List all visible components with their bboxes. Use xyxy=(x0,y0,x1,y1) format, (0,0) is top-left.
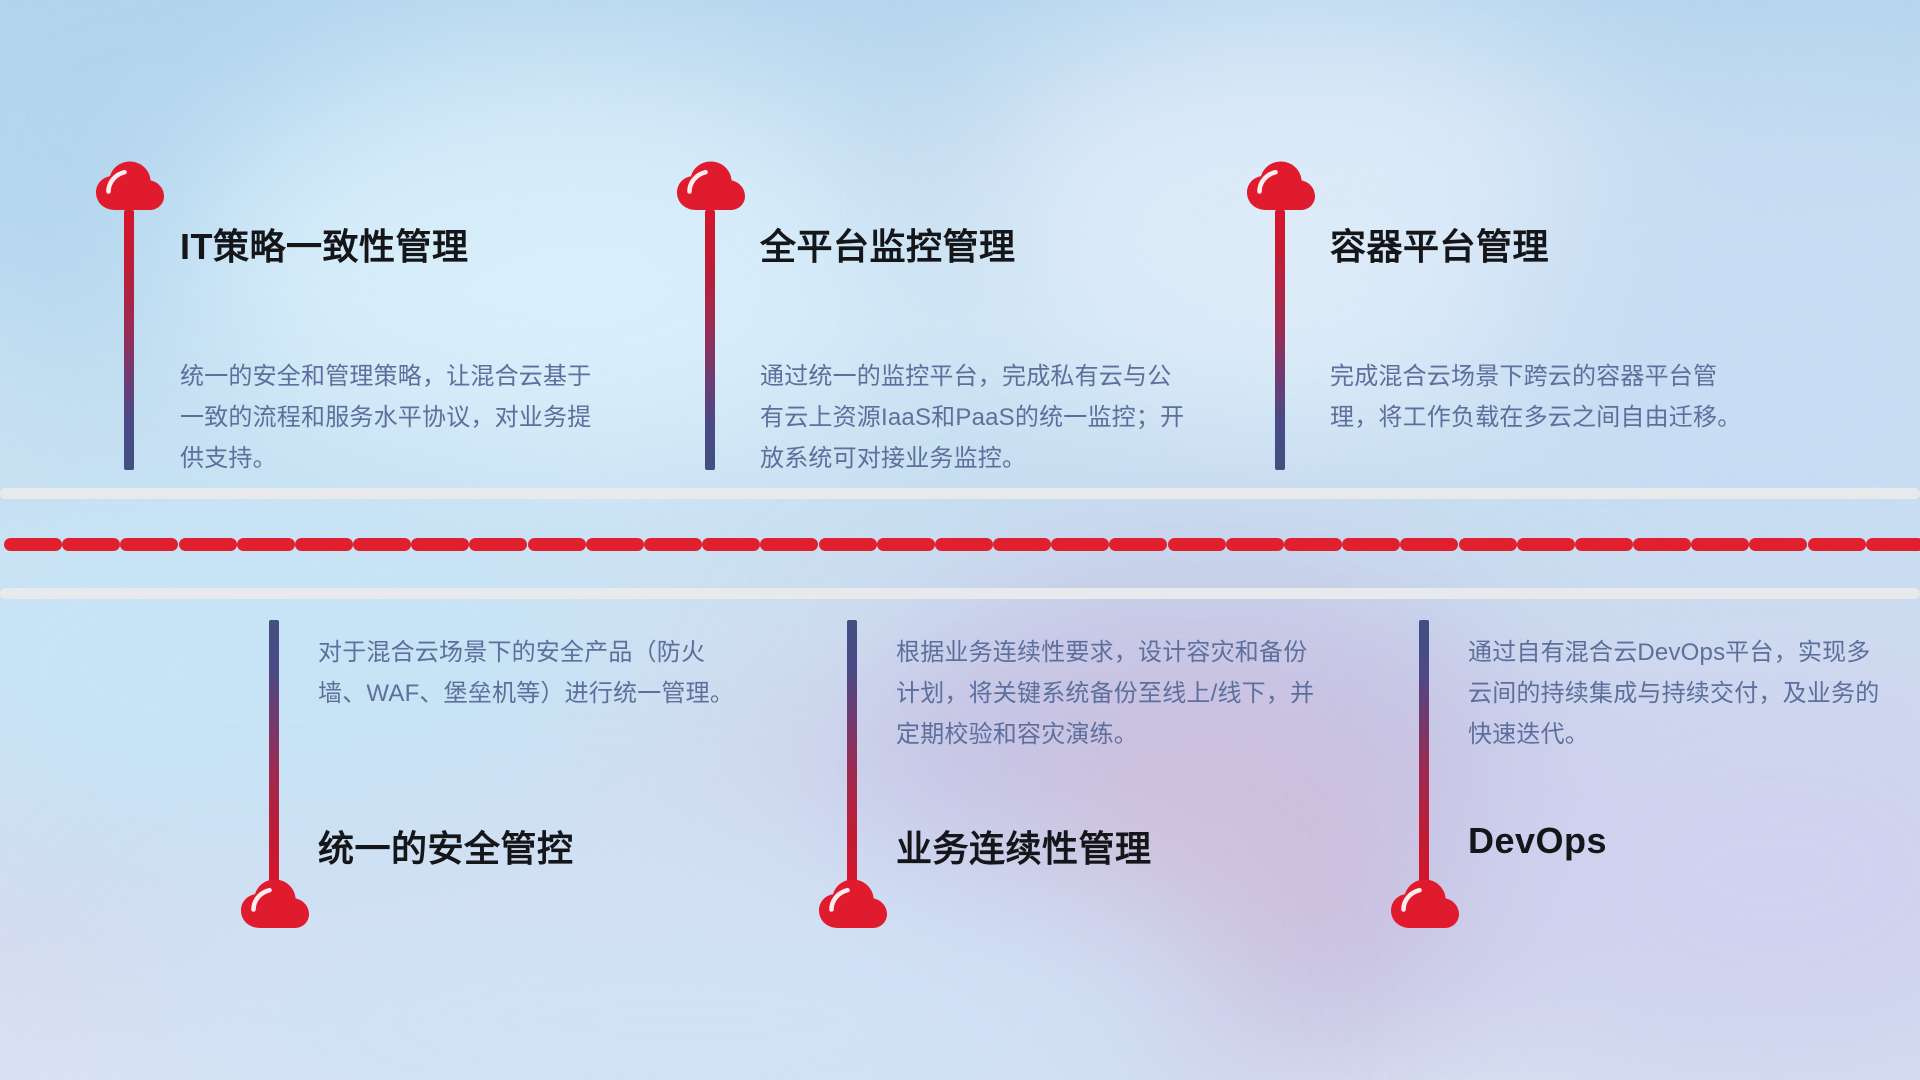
road-dash-segment xyxy=(819,538,877,551)
pin-bar xyxy=(269,620,279,888)
top-item-3-title: 容器平台管理 xyxy=(1330,218,1549,270)
road-dash-segment xyxy=(1691,538,1749,551)
infographic-canvas: IT策略一致性管理 统一的安全和管理策略，让混合云基于一致的流程和服务水平协议，… xyxy=(0,0,1920,1080)
road-dash-segment xyxy=(1168,538,1226,551)
cloud-icon xyxy=(1390,878,1460,930)
background-blob xyxy=(0,0,460,380)
road-dash-segment xyxy=(179,538,237,551)
cloud-icon xyxy=(676,160,746,212)
top-item-1-title: IT策略一致性管理 xyxy=(180,218,469,270)
road-dash-segment xyxy=(1575,538,1633,551)
road-dash-segment xyxy=(1866,538,1920,551)
road-dash-segment xyxy=(295,538,353,551)
road-dash-segment xyxy=(120,538,178,551)
top-item-2-title: 全平台监控管理 xyxy=(760,218,1016,270)
pin-bar xyxy=(1275,210,1285,470)
road-dash-segment xyxy=(935,538,993,551)
top-item-2-body: 通过统一的监控平台，完成私有云与公有云上资源IaaS和PaaS的统一监控；开放系… xyxy=(760,356,1190,479)
road-edge-top xyxy=(0,488,1920,499)
road-dash-segment xyxy=(528,538,586,551)
road-dash-segment xyxy=(993,538,1051,551)
top-item-1-body: 统一的安全和管理策略，让混合云基于一致的流程和服务水平协议，对业务提供支持。 xyxy=(180,356,600,479)
road-dash-segment xyxy=(644,538,702,551)
bottom-item-1-title: 统一的安全管控 xyxy=(318,820,574,872)
cloud-icon xyxy=(1246,160,1316,212)
road-dash-segment xyxy=(1517,538,1575,551)
road-dash-segment xyxy=(411,538,469,551)
road-dash-segment xyxy=(1284,538,1342,551)
road-dash-segment xyxy=(1342,538,1400,551)
road-dash-segment xyxy=(1051,538,1109,551)
road-dash-segment xyxy=(237,538,295,551)
road-dash-segment xyxy=(586,538,644,551)
road-dash-segment xyxy=(1459,538,1517,551)
road-dash-segment xyxy=(1808,538,1866,551)
bottom-item-1-body: 对于混合云场景下的安全产品（防火墙、WAF、堡垒机等）进行统一管理。 xyxy=(318,632,738,714)
road-dash-segment xyxy=(62,538,120,551)
road-dash-segment xyxy=(1400,538,1458,551)
road-dash-segment xyxy=(353,538,411,551)
road-dash-segment xyxy=(1749,538,1807,551)
road-dash-segment xyxy=(4,538,62,551)
pin-bar xyxy=(705,210,715,470)
cloud-icon xyxy=(818,878,888,930)
road-dash-segment xyxy=(1633,538,1691,551)
road-dashed-centerline xyxy=(0,538,1920,551)
road-dash-segment xyxy=(469,538,527,551)
road-dash-segment xyxy=(760,538,818,551)
road-dash-segment xyxy=(1109,538,1167,551)
road-dash-segment xyxy=(1226,538,1284,551)
bottom-item-2-body: 根据业务连续性要求，设计容灾和备份计划，将关键系统备份至线上/线下，并定期校验和… xyxy=(896,632,1316,755)
pin-bar xyxy=(124,210,134,470)
road-dash-segment xyxy=(877,538,935,551)
cloud-icon xyxy=(240,878,310,930)
bottom-item-3-body: 通过自有混合云DevOps平台，实现多云间的持续集成与持续交付，及业务的快速迭代… xyxy=(1468,632,1888,755)
cloud-icon xyxy=(95,160,165,212)
bottom-item-2-title: 业务连续性管理 xyxy=(896,820,1152,872)
pin-bar xyxy=(847,620,857,888)
pin-bar xyxy=(1419,620,1429,888)
road-dash-segment xyxy=(702,538,760,551)
background-blob xyxy=(1500,120,1920,580)
top-item-3-body: 完成混合云场景下跨云的容器平台管理，将工作负载在多云之间自由迁移。 xyxy=(1330,356,1750,438)
road-edge-bottom xyxy=(0,588,1920,599)
bottom-item-3-title: DevOps xyxy=(1468,820,1607,862)
